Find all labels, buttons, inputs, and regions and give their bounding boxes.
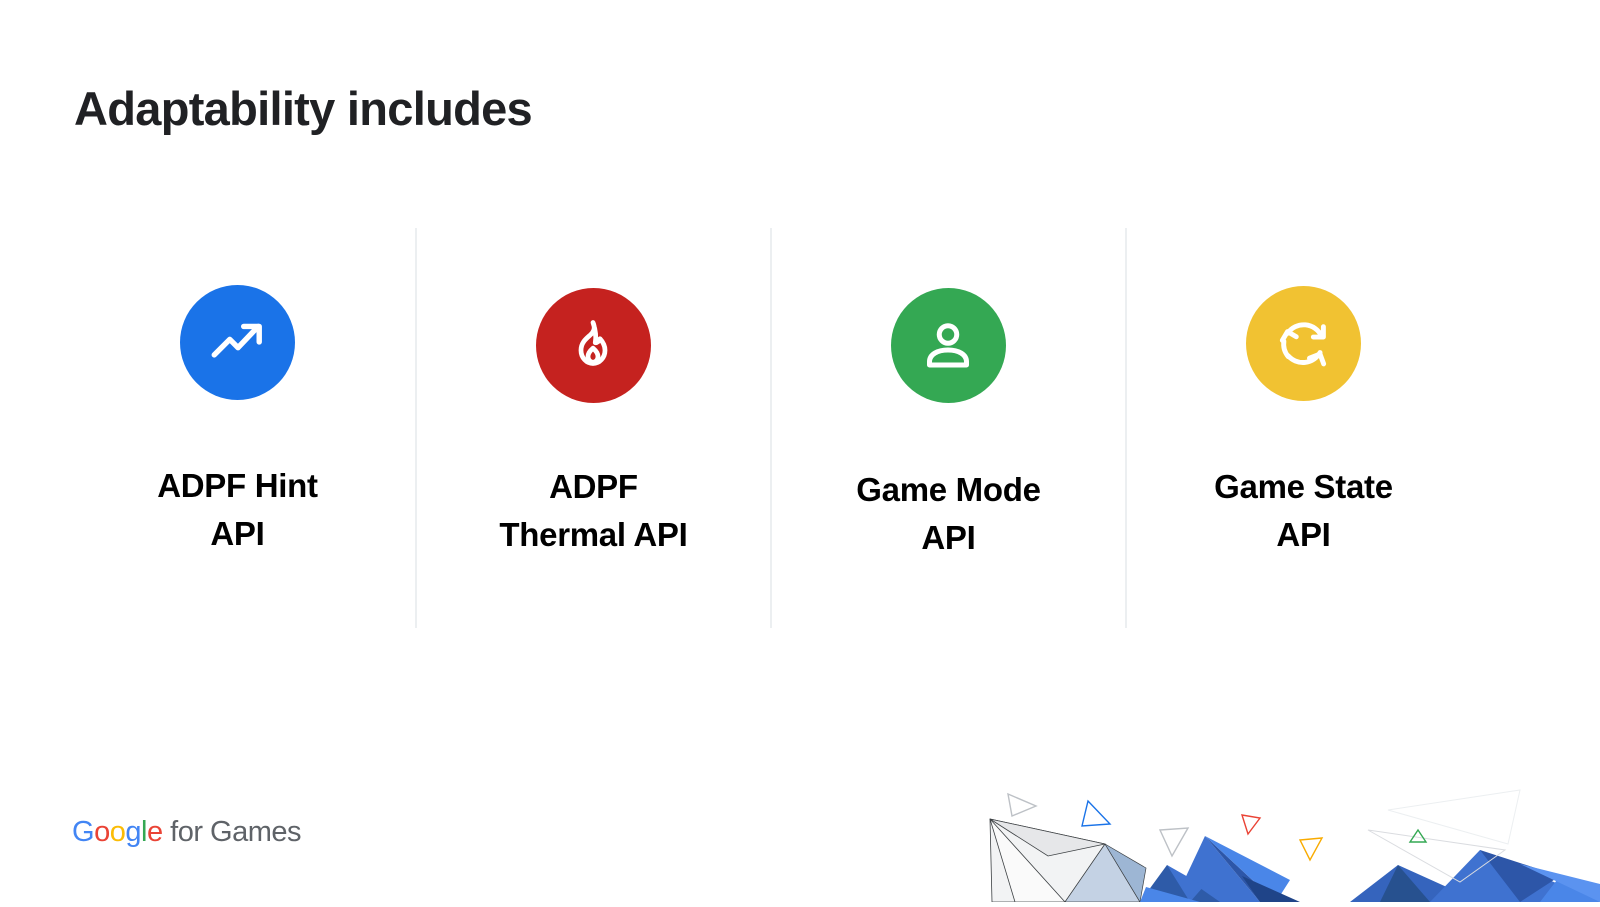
- triangle-blue: [1082, 801, 1110, 826]
- page-title: Adaptability includes: [74, 82, 532, 136]
- card-adpf-thermal-api[interactable]: ADPF Thermal API: [415, 228, 770, 628]
- accent-triangles: [1008, 794, 1426, 860]
- logo-letter-g2: g: [125, 816, 141, 848]
- card-label-line1: Game State: [1214, 468, 1393, 505]
- triangle-grey-1: [1008, 794, 1036, 816]
- api-cards-row: ADPF Hint API ADPF Thermal API Game Mode…: [60, 228, 1480, 628]
- logo-letter-o1: o: [94, 816, 110, 848]
- card-label: ADPF Thermal API: [481, 463, 705, 559]
- logo-letter-e1: e: [147, 816, 163, 848]
- triangle-red: [1242, 815, 1260, 834]
- card-label-line1: Game Mode: [856, 471, 1040, 508]
- card-adpf-hint-api[interactable]: ADPF Hint API: [60, 228, 415, 628]
- logo-suffix-for-games: for Games: [163, 816, 301, 848]
- card-label-line2: API: [1276, 516, 1330, 553]
- card-label: ADPF Hint API: [139, 462, 335, 558]
- logo-letter-g1: G: [72, 816, 94, 848]
- blue-polygon-cluster-left: [1140, 836, 1300, 902]
- logo-letter-o2: o: [110, 816, 126, 848]
- card-game-mode-api[interactable]: Game Mode API: [770, 228, 1125, 628]
- google-for-games-logo: Google for Games: [72, 818, 301, 847]
- card-label: Game State API: [1196, 463, 1411, 559]
- grey-polygon-cluster: [990, 819, 1146, 902]
- card-label-line2: API: [210, 515, 264, 552]
- card-label-line2: API: [921, 519, 975, 556]
- card-label: Game Mode API: [838, 466, 1058, 562]
- grey-outline-wedge: [1368, 790, 1520, 882]
- sync-refresh-icon: [1246, 286, 1361, 401]
- card-game-state-api[interactable]: Game State API: [1125, 228, 1480, 628]
- card-label-line1: ADPF Hint: [157, 467, 317, 504]
- flame-icon: [536, 288, 651, 403]
- card-label-line1: ADPF: [549, 468, 638, 505]
- triangle-grey-2: [1160, 828, 1188, 856]
- decoration-svg: [960, 772, 1600, 902]
- triangle-green: [1410, 830, 1426, 842]
- triangle-yellow: [1300, 838, 1322, 860]
- blue-polygon-cluster-right: [1350, 850, 1600, 902]
- low-poly-decoration: [960, 772, 1600, 902]
- person-icon: [891, 288, 1006, 403]
- trending-up-icon: [180, 285, 295, 400]
- card-label-line2: Thermal API: [499, 516, 687, 553]
